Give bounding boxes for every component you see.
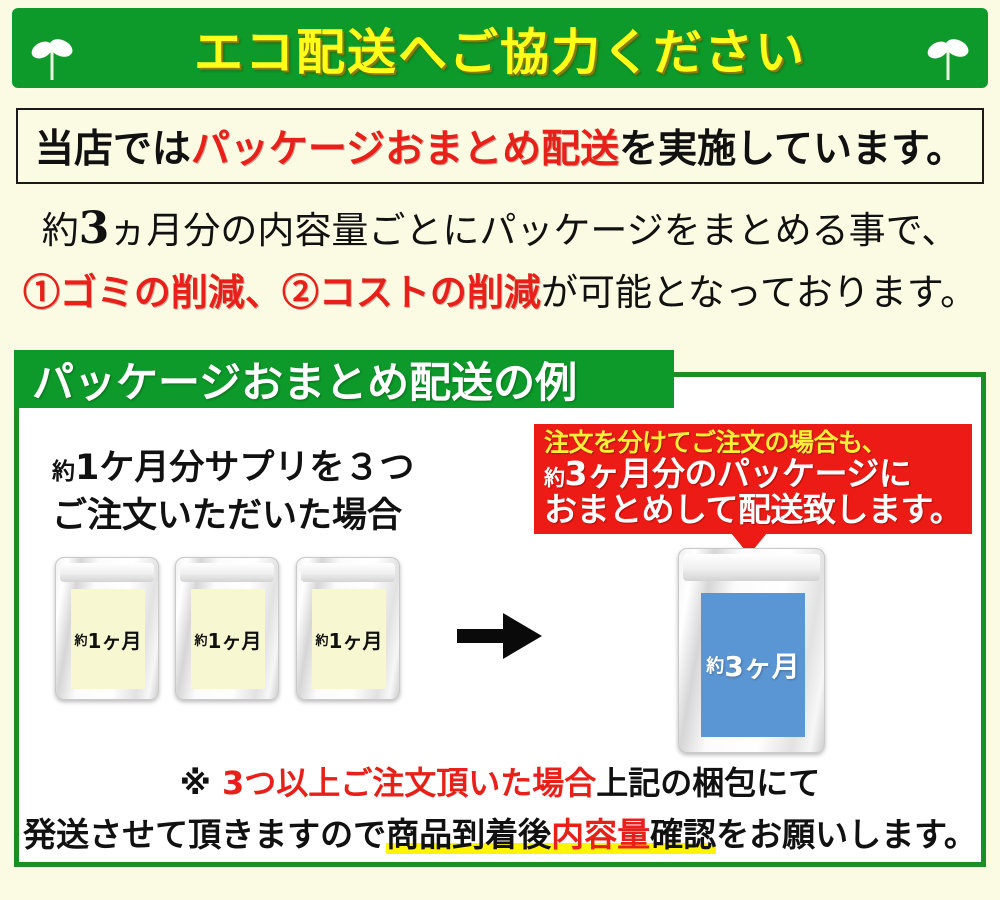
pouch-3-month: 約3ヶ月 bbox=[678, 548, 825, 753]
note-line2-part3: 内容量 bbox=[551, 815, 650, 854]
intro-line2-tail: が可能となっております。 bbox=[541, 271, 977, 314]
intro-line1-number: 3 bbox=[79, 203, 110, 254]
order-case-caption-line1: 約1ケ月分サプリを３つ bbox=[52, 444, 482, 492]
note-line-1: ※ 3つ以上ご注文頂いた場合上記の梱包にて bbox=[0, 758, 1000, 804]
order-case-caption: 約1ケ月分サプリを３つ ご注文いただいた場合 bbox=[52, 444, 482, 541]
pouch-label-prefix: 約 bbox=[706, 652, 724, 678]
right-arrow-icon bbox=[457, 610, 543, 662]
note-line2-part5: をお願いします。 bbox=[716, 815, 977, 854]
pouch-label: 約1ヶ月 bbox=[71, 589, 145, 689]
note-line2-part1: 発送させて頂きますので bbox=[23, 815, 386, 854]
pouch-label: 約1ヶ月 bbox=[312, 589, 386, 689]
callout-line2-prefix: 約 bbox=[544, 466, 565, 490]
pouch-label: 約3ヶ月 bbox=[701, 593, 805, 737]
headline-text: 当店ではパッケージおまとめ配送を実施しています。 bbox=[35, 118, 965, 174]
headline-prefix: 当店では bbox=[35, 126, 191, 172]
page-title: エコ配送へご協力ください bbox=[12, 8, 988, 88]
pouch-label: 約1ヶ月 bbox=[191, 589, 265, 689]
note-mark: ※ bbox=[180, 764, 222, 802]
header-banner: エコ配送へご協力ください bbox=[12, 8, 988, 88]
pouch-1-month: 約1ヶ月 bbox=[55, 557, 159, 700]
sprout-icon bbox=[926, 34, 970, 80]
pouch-1-month: 約1ヶ月 bbox=[175, 557, 279, 700]
intro-line-2: ①ゴミの削減、②コストの削減が可能となっております。 bbox=[0, 262, 1000, 316]
pouch-label-prefix: 約 bbox=[316, 630, 329, 649]
callout-line-2: 約3ヶ月分のパッケージに bbox=[544, 456, 964, 492]
pouch-label-text: 1ヶ月 bbox=[88, 625, 142, 654]
caption-line1-prefix: 約 bbox=[52, 459, 75, 485]
order-case-caption-line2: ご注文いただいた場合 bbox=[52, 492, 482, 540]
pouch-label-text: 1ヶ月 bbox=[208, 625, 262, 654]
note-line2-part2: 商品到着後 bbox=[386, 815, 551, 854]
pouch-label-text: 3ヶ月 bbox=[724, 645, 799, 685]
pouch-label-text: 1ヶ月 bbox=[329, 625, 383, 654]
callout-line2-text: 3ヶ月分のパッケージに bbox=[565, 454, 912, 493]
example-banner: パッケージおまとめ配送の例 bbox=[14, 350, 674, 408]
sprout-icon bbox=[30, 34, 74, 80]
callout-line-3: おまとめして配送致します。 bbox=[544, 492, 964, 528]
caption-line1-text: 1ケ月分サプリを３つ bbox=[75, 448, 414, 488]
intro-line-1: 約3ヵ月分の内容量ごとにパッケージをまとめる事で、 bbox=[0, 200, 1000, 254]
headline-box: 当店ではパッケージおまとめ配送を実施しています。 bbox=[16, 108, 984, 184]
note-line2-part4: 確認 bbox=[650, 815, 716, 854]
note-line1-highlight: 3つ以上ご注文頂いた場合 bbox=[222, 764, 596, 802]
example-banner-label: パッケージおまとめ配送の例 bbox=[32, 349, 577, 410]
note-line-2: 発送させて頂きますので商品到着後内容量確認をお願いします。 bbox=[0, 808, 1000, 856]
pouch-label-prefix: 約 bbox=[75, 630, 88, 649]
pouch-1-month: 約1ヶ月 bbox=[296, 557, 400, 700]
intro-line1-suffix: ヵ月分の内容量ごとにパッケージをまとめる事で、 bbox=[109, 209, 958, 252]
callout-line-1: 注文を分けてご注文の場合も、 bbox=[544, 429, 964, 456]
intro-line2-highlight: ①ゴミの削減、②コストの削減 bbox=[23, 270, 541, 314]
pouch-label-prefix: 約 bbox=[195, 630, 208, 649]
eco-shipping-promo-page: エコ配送へご協力ください 当店ではパッケージおまとめ配送を実施しています。 約3… bbox=[0, 0, 1000, 900]
red-callout-box: 注文を分けてご注文の場合も、 約3ヶ月分のパッケージに おまとめして配送致します… bbox=[534, 424, 972, 534]
headline-suffix: を実施しています。 bbox=[619, 126, 965, 172]
headline-highlight: パッケージおまとめ配送 bbox=[191, 126, 619, 172]
note-line1-tail: 上記の梱包にて bbox=[596, 764, 820, 802]
intro-line1-prefix: 約 bbox=[42, 209, 79, 252]
